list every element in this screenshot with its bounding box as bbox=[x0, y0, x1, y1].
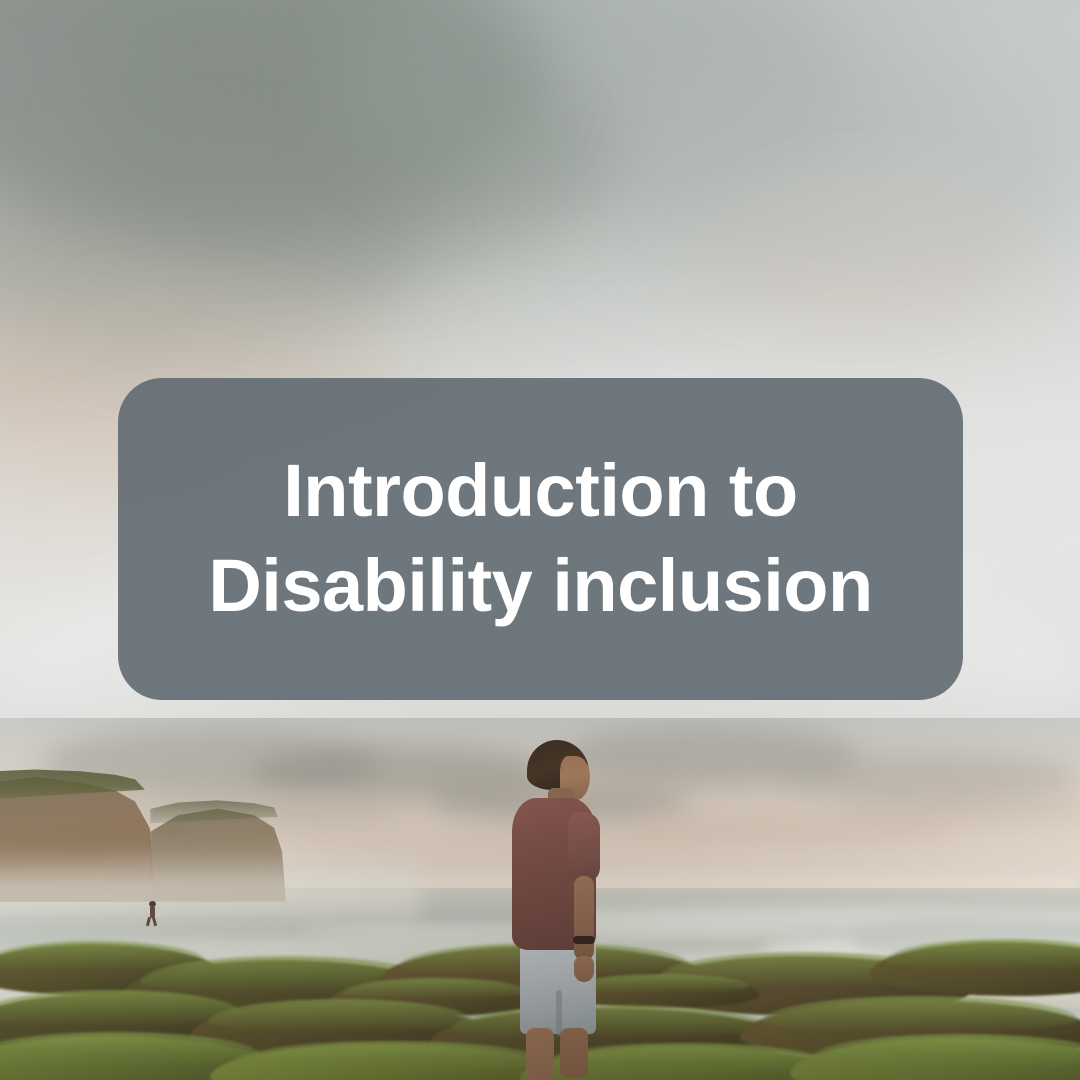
man-wrist-band bbox=[573, 936, 595, 944]
mossy-rock bbox=[790, 1038, 1080, 1080]
beach-scene bbox=[0, 718, 1080, 1080]
mossy-rock bbox=[870, 942, 1080, 996]
title-card: Introduction to Disability inclusion bbox=[118, 378, 963, 700]
surfer-leg bbox=[152, 917, 157, 926]
standing-man bbox=[498, 740, 608, 1080]
man-shorts-seam bbox=[556, 990, 562, 1036]
title-line-2: Disability inclusion bbox=[208, 539, 872, 634]
storm-cloud bbox=[700, 180, 1030, 350]
man-leg bbox=[526, 1028, 554, 1080]
sea-mist bbox=[0, 848, 420, 928]
surfer-leg bbox=[146, 917, 151, 926]
man-sleeve bbox=[568, 812, 600, 882]
man-leg bbox=[560, 1028, 588, 1078]
poster-canvas: Introduction to Disability inclusion bbox=[0, 0, 1080, 1080]
title-line-1: Introduction to bbox=[283, 444, 797, 539]
man-hand bbox=[574, 956, 594, 982]
man-arm bbox=[574, 876, 594, 960]
distant-surfer bbox=[144, 904, 162, 926]
